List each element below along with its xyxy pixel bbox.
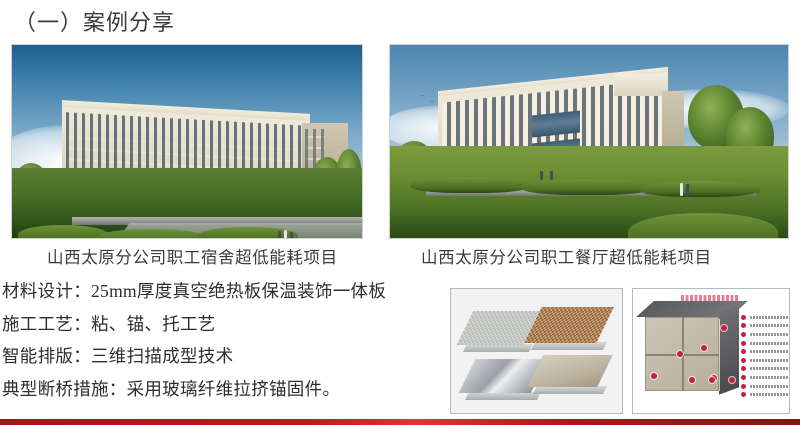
legend-item xyxy=(741,390,789,399)
bird-shape xyxy=(420,95,424,97)
spec-label: 材料设计： xyxy=(2,281,91,301)
callout-dot xyxy=(709,377,715,383)
callout-dot xyxy=(689,377,695,383)
spec-value: 三维扫描成型技术 xyxy=(91,346,233,366)
pedestrian-figure xyxy=(540,171,543,180)
legend-bullet-icon xyxy=(741,375,746,380)
pedestrian-figure xyxy=(278,231,281,238)
tile-face xyxy=(524,307,614,343)
callout-dot xyxy=(721,325,727,331)
legend-bullet-icon xyxy=(741,315,746,320)
hedge-shape xyxy=(522,179,652,195)
pedestrian-figure xyxy=(290,232,293,238)
page-title: （一）案例分享 xyxy=(14,5,175,37)
building-parapet xyxy=(614,74,668,96)
tile-side xyxy=(533,386,607,394)
legend-label xyxy=(750,316,789,319)
hedge-shape xyxy=(410,177,530,193)
legend-label xyxy=(750,393,789,396)
legend-bullet-icon xyxy=(741,323,746,328)
legend-bullet-icon xyxy=(741,341,746,346)
spec-value: 采用玻璃纤维拉挤锚固件。 xyxy=(127,379,341,399)
legend-label xyxy=(750,385,789,388)
caption-dormitory: 山西太原分公司职工宿舍超低能耗项目 xyxy=(47,244,338,268)
sample-tile-granite-brown xyxy=(533,307,605,343)
callout-dot xyxy=(651,373,657,379)
spec-label: 典型断桥措施： xyxy=(2,379,127,399)
callout-dot xyxy=(677,351,683,357)
legend-label xyxy=(750,376,789,379)
legend-label xyxy=(750,367,789,370)
spec-label: 智能排版： xyxy=(2,346,91,366)
legend-item xyxy=(741,313,789,322)
legend-bullet-icon xyxy=(741,332,746,337)
panel-material-samples xyxy=(450,288,623,414)
legend-item xyxy=(741,373,789,382)
legend-item xyxy=(741,382,789,391)
photo-canteen xyxy=(390,45,788,238)
tile-side xyxy=(463,344,533,352)
sample-tile-metal xyxy=(467,359,539,393)
legend-item xyxy=(741,339,789,348)
legend-label xyxy=(750,333,789,336)
spec-value: 粘、锚、托工艺 xyxy=(91,314,216,334)
pedestrian-figure xyxy=(550,171,553,180)
spec-line-layout: 智能排版：三维扫描成型技术 xyxy=(2,348,442,366)
panel-wall-detail xyxy=(632,288,790,414)
sample-tile-stone xyxy=(535,355,605,387)
legend-item xyxy=(741,365,789,374)
pedestrian-figure xyxy=(680,183,683,196)
spec-line-material: 材料设计：25mm厚度真空绝热板保温装饰一体板 xyxy=(2,283,442,301)
detail-legend xyxy=(741,313,789,399)
slide-root: （一）案例分享 xyxy=(0,0,800,425)
tile-side xyxy=(531,342,607,350)
bird-shape xyxy=(430,101,434,103)
spec-line-construction: 施工工艺：粘、锚、托工艺 xyxy=(2,316,442,334)
caption-canteen: 山西太原分公司职工餐厅超低能耗项目 xyxy=(421,244,712,268)
hedge-shape xyxy=(640,181,760,197)
legend-item xyxy=(741,330,789,339)
pedestrian-figure xyxy=(284,230,287,238)
spec-label: 施工工艺： xyxy=(2,314,91,334)
legend-label xyxy=(750,350,789,353)
tile-face xyxy=(527,355,613,387)
bottom-accent-strip xyxy=(0,419,800,425)
legend-item xyxy=(741,356,789,365)
legend-label xyxy=(750,342,789,345)
spec-line-thermal-bridge: 典型断桥措施：采用玻璃纤维拉挤锚固件。 xyxy=(2,381,442,399)
photo-dormitory xyxy=(12,45,362,238)
legend-bullet-icon xyxy=(741,392,746,397)
pedestrian-figure xyxy=(686,184,689,196)
legend-label xyxy=(750,359,789,362)
tile-side xyxy=(465,392,541,400)
callout-dot xyxy=(701,345,707,351)
legend-label xyxy=(750,324,789,327)
hedge-shape xyxy=(198,227,298,238)
legend-bullet-icon xyxy=(741,366,746,371)
hedge-shape xyxy=(18,225,108,238)
legend-item xyxy=(741,322,789,331)
legend-bullet-icon xyxy=(741,349,746,354)
legend-bullet-icon xyxy=(741,358,746,363)
spec-value: 25mm厚度真空绝热板保温装饰一体板 xyxy=(91,281,386,301)
legend-item xyxy=(741,347,789,356)
legend-bullet-icon xyxy=(741,384,746,389)
sample-tile-granite-grey xyxy=(465,311,531,345)
spec-text-block: 材料设计：25mm厚度真空绝热板保温装饰一体板 施工工艺：粘、锚、托工艺 智能排… xyxy=(2,283,442,413)
callout-dot xyxy=(729,377,735,383)
